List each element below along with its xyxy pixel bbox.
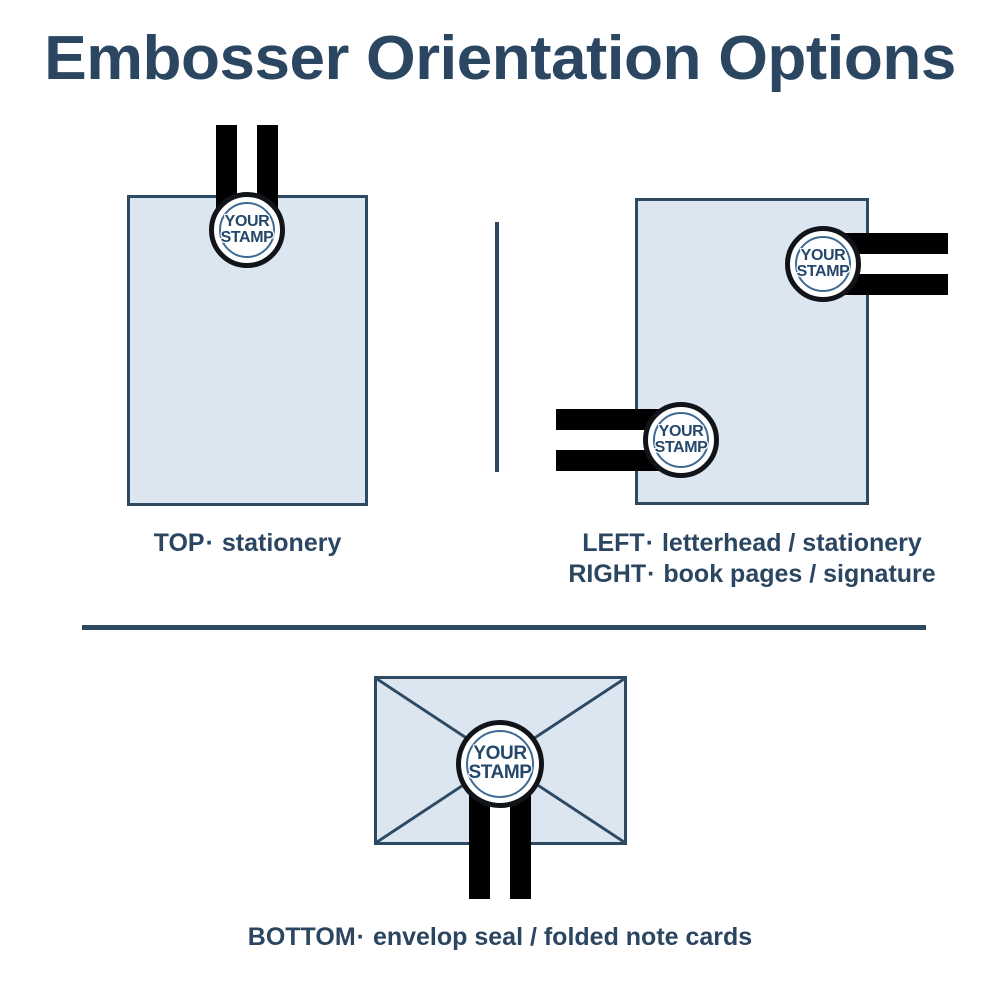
stamp-label: YOUR STAMP [468, 745, 531, 782]
caption-left-line: LEFT· letterhead / stationery [520, 528, 984, 559]
caption-right-position: RIGHT [568, 560, 646, 588]
page-title: Embosser Orientation Options [0, 24, 1000, 94]
caption-left-description: letterhead / stationery [662, 529, 922, 557]
caption-left-position: LEFT [582, 529, 645, 557]
stamp-label-line2: STAMP [797, 264, 850, 280]
caption-left-separator: · [645, 529, 655, 557]
caption-right-separator: · [646, 560, 656, 588]
stamp-label: YOUR STAMP [221, 214, 274, 245]
caption-bottom-description: envelop seal / folded note cards [373, 923, 752, 951]
caption-right-line: RIGHT· book pages / signature [520, 559, 984, 590]
caption-top: TOP· stationery [107, 528, 388, 559]
caption-left-right: LEFT· letterhead / stationery RIGHT· boo… [520, 528, 984, 590]
panel-divider-vertical [495, 222, 499, 472]
stamp-left[interactable]: YOUR STAMP [643, 402, 719, 478]
stamp-right[interactable]: YOUR STAMP [785, 226, 861, 302]
diagram-canvas: Embosser Orientation Options YOUR STAMP … [0, 0, 1000, 1000]
caption-top-separator: · [205, 529, 215, 557]
caption-bottom-separator: · [356, 923, 366, 951]
caption-top-position: TOP [154, 529, 205, 557]
caption-bottom-position: BOTTOM [248, 923, 356, 951]
stamp-label: YOUR STAMP [797, 248, 850, 279]
caption-bottom: BOTTOM· envelop seal / folded note cards [180, 922, 820, 953]
stamp-label-line2: STAMP [655, 440, 708, 456]
stamp-bottom[interactable]: YOUR STAMP [456, 720, 544, 808]
caption-right-description: book pages / signature [663, 560, 935, 588]
panel-divider-horizontal [82, 625, 926, 630]
stamp-label-line2: STAMP [221, 230, 274, 246]
stamp-top[interactable]: YOUR STAMP [209, 192, 285, 268]
stamp-label-line2: STAMP [468, 764, 531, 783]
stamp-label-line1: YOUR [221, 214, 274, 230]
stamp-label-line1: YOUR [797, 248, 850, 264]
caption-top-description: stationery [222, 529, 341, 557]
stamp-label: YOUR STAMP [655, 424, 708, 455]
stamp-label-line1: YOUR [655, 424, 708, 440]
